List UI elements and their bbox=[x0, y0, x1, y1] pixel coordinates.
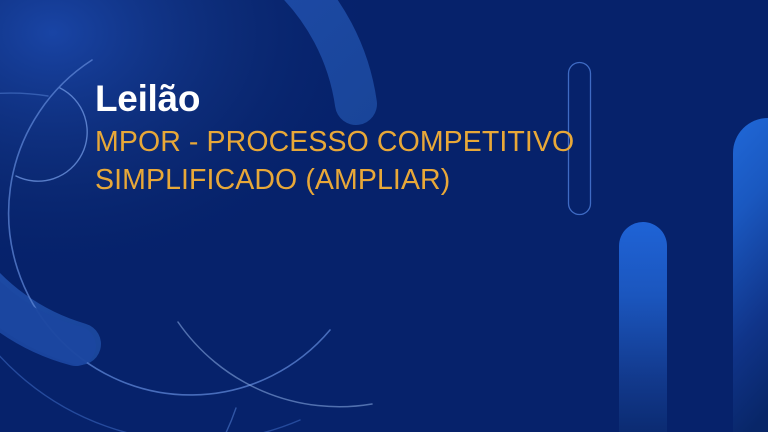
banner-text-block: Leilão MPOR - PROCESSO COMPETITIVO SIMPL… bbox=[95, 80, 715, 200]
rounded-top-bar-right bbox=[733, 118, 768, 432]
background-decoration bbox=[0, 0, 768, 432]
subtitle-line-2: SIMPLIFICADO (AMPLIAR) bbox=[95, 162, 715, 200]
leilao-banner: Leilão MPOR - PROCESSO COMPETITIVO SIMPL… bbox=[0, 0, 768, 432]
page-title: Leilão bbox=[95, 80, 715, 117]
subtitle-line-1: MPOR - PROCESSO COMPETITIVO bbox=[95, 124, 715, 162]
rounded-top-bar-middle bbox=[619, 222, 667, 432]
